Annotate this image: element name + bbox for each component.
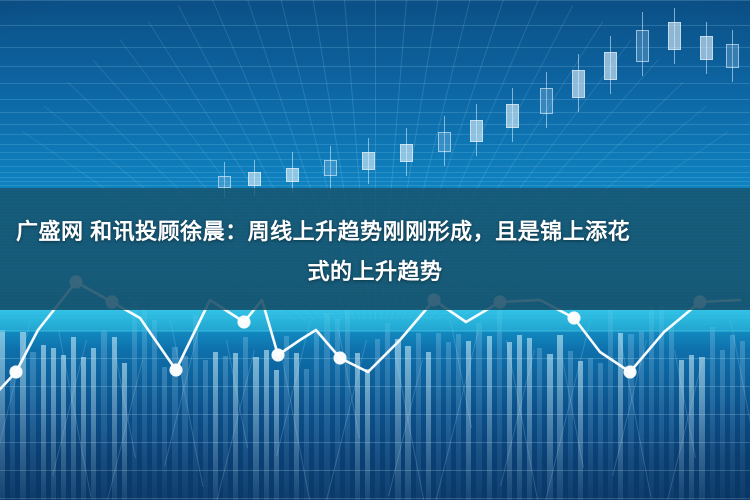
headline-block: 广盛网 和讯投顾徐晨：周线上升趋势刚刚形成，且是锦上添花 式的上升趋势	[0, 212, 750, 292]
banner-image: 广盛网 和讯投顾徐晨：周线上升趋势刚刚形成，且是锦上添花 式的上升趋势	[0, 0, 750, 500]
headline-line-2: 式的上升趋势	[12, 252, 738, 292]
headline-line-1: 广盛网 和讯投顾徐晨：周线上升趋势刚刚形成，且是锦上添花	[12, 212, 738, 252]
